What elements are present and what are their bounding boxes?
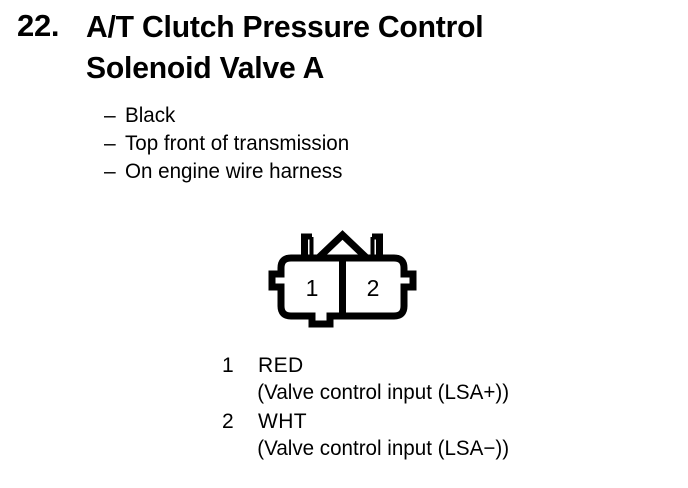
header-row: 22. A/T Clutch Pressure Control Solenoid… bbox=[0, 6, 688, 88]
dash-icon: – bbox=[104, 102, 125, 130]
page-title-line-1: A/T Clutch Pressure Control bbox=[86, 6, 670, 47]
connector-diagram: 1 2 bbox=[268, 228, 438, 328]
pin-entry: 2 WHT (Valve control input (LSA−)) bbox=[222, 408, 682, 462]
list-item: – Black bbox=[104, 102, 604, 130]
connector-cavity-label-2: 2 bbox=[367, 275, 380, 301]
list-item: – Top front of transmission bbox=[104, 130, 604, 158]
pin-wire-color: RED bbox=[258, 352, 304, 379]
section-header: 22. A/T Clutch Pressure Control Solenoid… bbox=[0, 6, 688, 88]
pin-description: (Valve control input (LSA+)) bbox=[222, 379, 673, 406]
pin-entry-head: 1 RED bbox=[222, 352, 682, 379]
dash-icon: – bbox=[104, 158, 125, 186]
pin-entry: 1 RED (Valve control input (LSA+)) bbox=[222, 352, 682, 406]
pin-number: 2 bbox=[222, 408, 258, 435]
connector-svg: 1 2 bbox=[268, 228, 438, 328]
list-item: – On engine wire harness bbox=[104, 158, 604, 186]
pin-entry-head: 2 WHT bbox=[222, 408, 682, 435]
connector-cavity-label-1: 1 bbox=[306, 275, 319, 301]
pin-number: 1 bbox=[222, 352, 258, 379]
dash-icon: – bbox=[104, 130, 125, 158]
list-item-label: Top front of transmission bbox=[125, 130, 349, 158]
page-canvas: 22. A/T Clutch Pressure Control Solenoid… bbox=[0, 0, 688, 488]
pin-legend: 1 RED (Valve control input (LSA+)) 2 WHT… bbox=[222, 352, 682, 464]
pin-wire-color: WHT bbox=[258, 408, 307, 435]
page-title-line-2: Solenoid Valve A bbox=[86, 47, 670, 88]
attribute-list: – Black – Top front of transmission – On… bbox=[104, 102, 604, 186]
list-item-label: Black bbox=[125, 102, 175, 130]
list-item-label: On engine wire harness bbox=[125, 158, 342, 186]
page-title: A/T Clutch Pressure Control Solenoid Val… bbox=[86, 6, 688, 88]
pin-description: (Valve control input (LSA−)) bbox=[222, 435, 673, 462]
item-number: 22. bbox=[0, 6, 86, 46]
